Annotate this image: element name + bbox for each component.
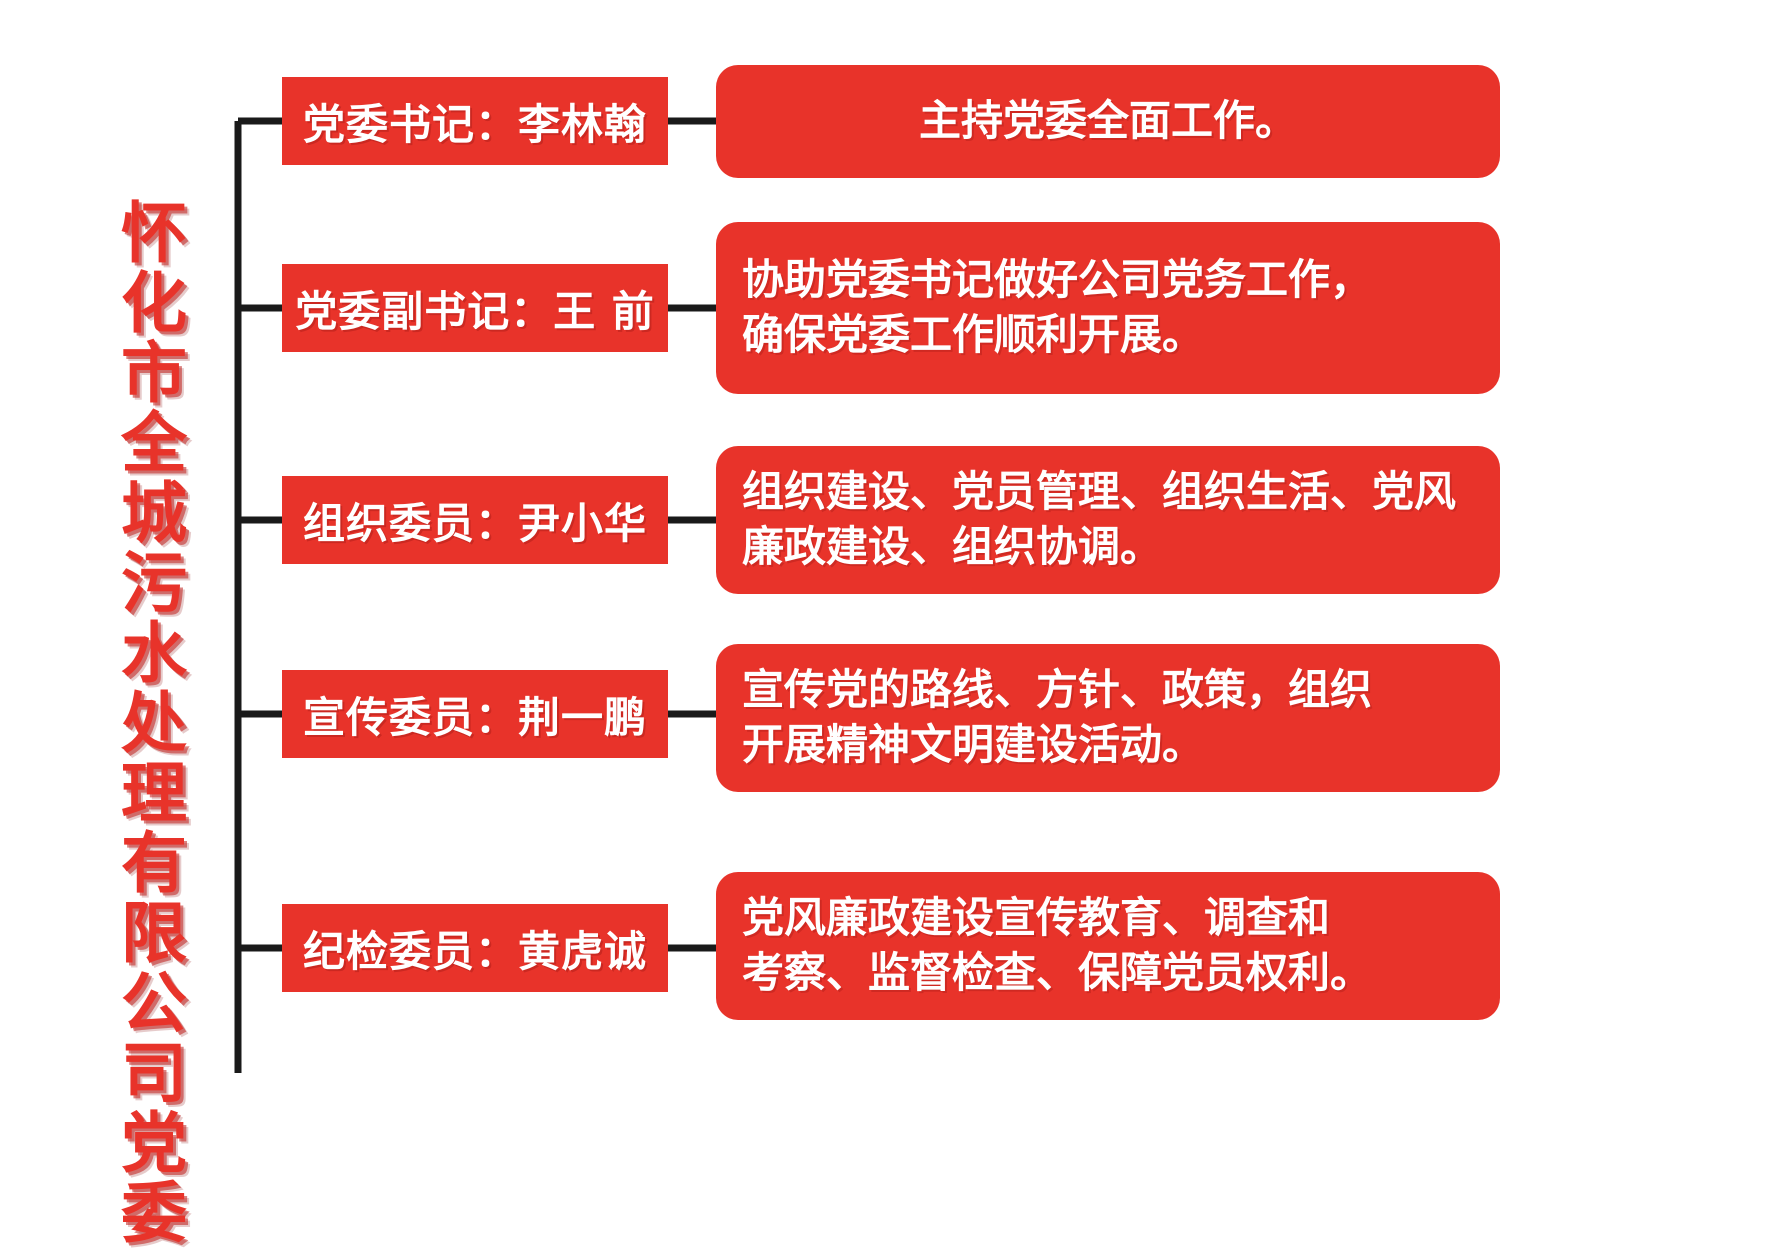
role-box-1[interactable]: 党委书记：李林翰 — [282, 77, 668, 165]
duty-line: 协助党委书记做好公司党务工作， — [742, 253, 1372, 308]
role-box-4[interactable]: 宣传委员：荆一鹏 — [282, 670, 668, 758]
role-box-2[interactable]: 党委副书记：王 前 — [282, 264, 668, 352]
duty-line: 考察、监督检查、保障党员权利。 — [742, 946, 1372, 1001]
duty-panel-3[interactable]: 组织建设、党员管理、组织生活、党风 廉政建设、组织协调。 — [716, 446, 1500, 594]
role-label-2: 党委副书记：王 前 — [295, 278, 655, 339]
duty-panel-5[interactable]: 党风廉政建设宣传教育、调查和 考察、监督检查、保障党员权利。 — [716, 872, 1500, 1020]
duty-line: 廉政建设、组织协调。 — [742, 520, 1162, 575]
duty-line: 党风廉政建设宣传教育、调查和 — [742, 891, 1330, 946]
duty-panel-1[interactable]: 主持党委全面工作。 — [716, 65, 1500, 178]
company-title: 怀化市全城污水处理有限公司党委 — [62, 198, 182, 988]
org-chart: 怀化市全城污水处理有限公司党委 党委书记：李林翰 主持党委全面工作。 党委副书记… — [0, 0, 1770, 1233]
role-label-4: 宣传委员：荆一鹏 — [303, 684, 647, 745]
role-label-3: 组织委员：尹小华 — [303, 490, 647, 551]
duty-line: 确保党委工作顺利开展。 — [742, 308, 1204, 363]
duty-line: 组织建设、党员管理、组织生活、党风 — [742, 465, 1456, 520]
duty-panel-2[interactable]: 协助党委书记做好公司党务工作， 确保党委工作顺利开展。 — [716, 222, 1500, 394]
role-box-3[interactable]: 组织委员：尹小华 — [282, 476, 668, 564]
connector-lines — [0, 0, 1770, 1233]
role-label-1: 党委书记：李林翰 — [303, 91, 647, 152]
duty-line: 宣传党的路线、方针、政策，组织 — [742, 663, 1372, 718]
duty-panel-4[interactable]: 宣传党的路线、方针、政策，组织 开展精神文明建设活动。 — [716, 644, 1500, 792]
role-box-5[interactable]: 纪检委员：黄虎诚 — [282, 904, 668, 992]
duty-line: 开展精神文明建设活动。 — [742, 718, 1204, 773]
duty-line: 主持党委全面工作。 — [919, 94, 1297, 149]
role-label-5: 纪检委员：黄虎诚 — [303, 918, 647, 979]
